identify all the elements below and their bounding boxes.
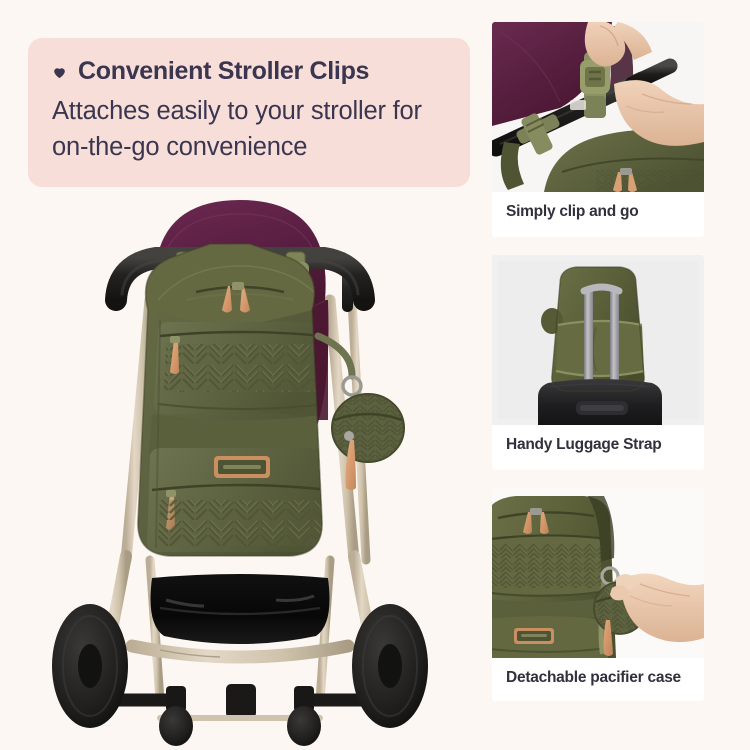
feature-card-list: Simply clip and go [492,22,704,719]
feature-card-detachable-pacifier-case[interactable]: Detachable pacifier case [492,488,704,701]
callout-subtitle: Attaches easily to your stroller for on-… [52,93,446,165]
callout-title: Convenient Stroller Clips [78,58,369,86]
heart-icon [52,65,67,80]
callout-title-row: Convenient Stroller Clips [52,58,446,86]
card-caption: Handy Luggage Strap [492,425,704,470]
product-feature-infographic: Convenient Stroller Clips Attaches easil… [0,0,750,750]
card-caption: Detachable pacifier case [492,658,704,701]
stroller-clip-photo [492,22,704,192]
feature-callout-card: Convenient Stroller Clips Attaches easil… [28,38,470,187]
feature-card-handy-luggage-strap[interactable]: Handy Luggage Strap [492,255,704,470]
feature-card-simply-clip-and-go[interactable]: Simply clip and go [492,22,704,237]
card-caption: Simply clip and go [492,192,704,237]
pacifier-case-photo [492,488,704,658]
luggage-strap-photo [492,255,704,425]
